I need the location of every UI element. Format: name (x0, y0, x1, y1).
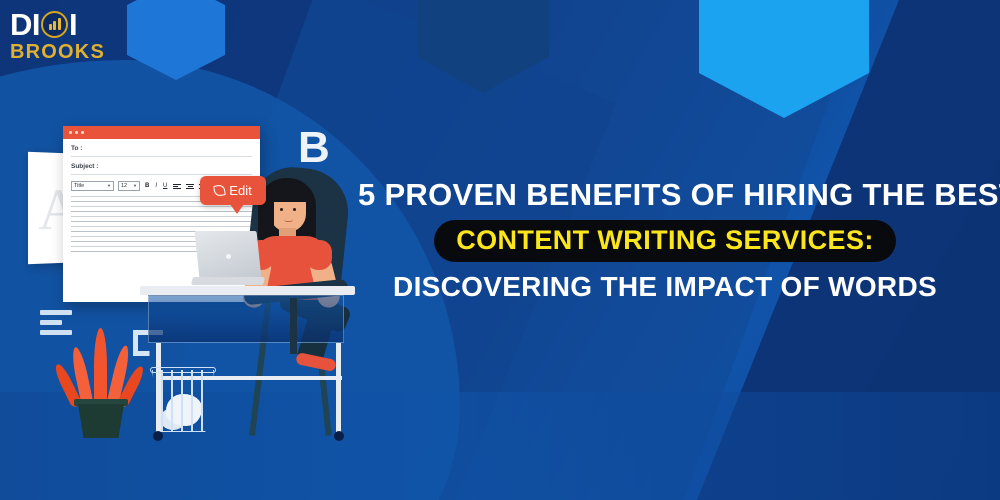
subject-field[interactable]: Subject : (71, 163, 252, 175)
letter-b-decor: B (298, 126, 330, 170)
logo-text-i: I (69, 9, 77, 40)
eye-right (293, 208, 296, 211)
hexagon-icon-left (127, 0, 225, 80)
style-select[interactable]: Title ▼ (71, 181, 114, 191)
swish-icon (41, 11, 68, 38)
bin-rim (150, 367, 216, 373)
logo-text-di: DI (10, 9, 40, 40)
headline-line-3: DISCOVERING THE IMPACT OF WORDS (358, 272, 972, 302)
chevron-down-icon: ▼ (133, 182, 137, 190)
sleeve-right (306, 240, 332, 270)
edit-button-label: Edit (229, 183, 251, 198)
bin-body (152, 370, 214, 432)
pot-body (78, 404, 124, 438)
glass-desk-icon (140, 286, 355, 295)
style-select-value: Title (74, 182, 84, 190)
laptop-keyboard (191, 277, 265, 285)
wire-trash-bin-icon (152, 370, 214, 442)
chart-globe-icon (41, 11, 68, 38)
chair-post (290, 298, 297, 354)
window-dots-icon (63, 126, 260, 139)
shoe (295, 352, 337, 372)
potted-plant-icon (62, 320, 138, 440)
desk-glass-panel (148, 295, 344, 343)
hexagon-icon-middle (417, 0, 549, 93)
logo-wordmark-top: DI I (10, 8, 130, 40)
chevron-down-icon: ▼ (107, 182, 111, 190)
brand-logo[interactable]: DI I BROOKS (10, 8, 130, 64)
font-size-select[interactable]: 12 ▼ (118, 181, 140, 191)
headline-line-1: 5 PROVEN BENEFITS OF HIRING THE BEST (358, 178, 972, 211)
logo-text-brooks: BROOKS (10, 41, 130, 64)
eye-left (280, 208, 283, 211)
font-size-value: 12 (121, 182, 127, 190)
headline-block: 5 PROVEN BENEFITS OF HIRING THE BEST CON… (358, 178, 972, 302)
leaf (94, 328, 107, 406)
caster-right (334, 431, 344, 441)
laptop-logo-dot (226, 254, 231, 259)
headline-line-2-highlight: CONTENT WRITING SERVICES: (434, 220, 896, 261)
edit-button[interactable]: Edit (200, 176, 266, 205)
marketing-banner: DI I BROOKS A To : Subject : Title ▼ (0, 0, 1000, 500)
pencil-icon (213, 184, 226, 197)
hexagon-icon-right (699, 0, 869, 118)
headline-highlight-wrap: CONTENT WRITING SERVICES: (358, 220, 972, 261)
desk-leg-right (336, 343, 341, 435)
to-field[interactable]: To : (71, 145, 252, 157)
